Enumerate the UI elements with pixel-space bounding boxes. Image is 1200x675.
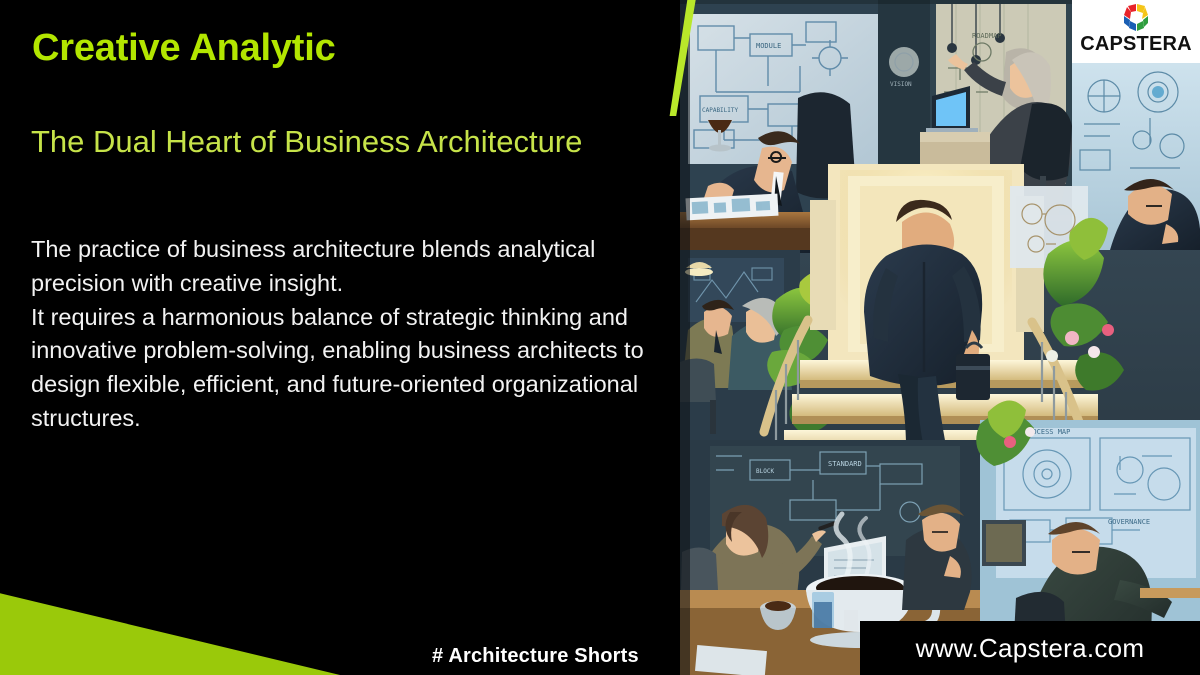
hashtag-label: # Architecture Shorts [432, 645, 639, 668]
svg-text:STANDARD: STANDARD [828, 460, 862, 468]
svg-text:MODULE: MODULE [756, 42, 781, 50]
website-url-text: www.Capstera.com [916, 633, 1145, 664]
page-subtitle: The Dual Heart of Business Architecture [31, 121, 631, 163]
text-panel: Creative Analytic The Dual Heart of Busi… [0, 0, 680, 675]
svg-text:GOVERNANCE: GOVERNANCE [1108, 518, 1150, 526]
slide-canvas: MODULE CAPABILITY VISION [0, 0, 1200, 675]
green-corner-wedge [0, 580, 340, 675]
svg-text:ROADMAP: ROADMAP [972, 32, 1002, 40]
svg-text:VISION: VISION [890, 81, 912, 88]
capstera-logo-text: CAPSTERA [1080, 34, 1192, 54]
body-paragraph: The practice of business architecture bl… [31, 233, 651, 436]
website-url-bar[interactable]: www.Capstera.com [860, 621, 1200, 675]
capstera-logo[interactable]: CAPSTERA [1072, 0, 1200, 63]
svg-text:CAPABILITY: CAPABILITY [702, 107, 739, 114]
illustration-collage: MODULE CAPABILITY VISION [680, 0, 1200, 675]
collage-artwork: MODULE CAPABILITY VISION [680, 0, 1200, 675]
svg-text:BLOCK: BLOCK [756, 468, 774, 475]
page-title: Creative Analytic [32, 28, 336, 70]
capstera-logo-mark [1119, 3, 1153, 33]
